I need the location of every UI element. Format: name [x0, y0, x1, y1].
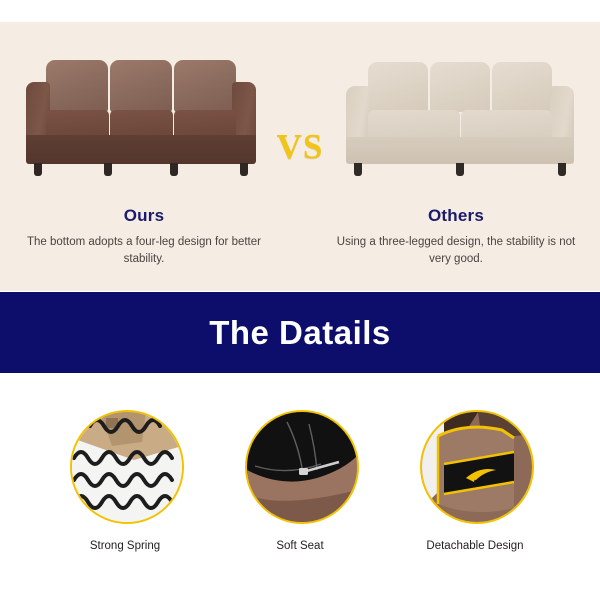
comparison-description-others: Using a three-legged design, the stabili…	[332, 234, 580, 268]
back-cushion	[430, 62, 490, 112]
section-banner: The Datails	[0, 292, 600, 373]
comparison-column-others: Others Using a three-legged design, the …	[316, 22, 596, 291]
sofa-leg	[558, 163, 566, 176]
sofa-base	[346, 137, 574, 164]
detail-item-strong-spring: Strong Spring	[50, 410, 200, 524]
sofa-leg	[456, 163, 464, 176]
sofa-leg	[240, 163, 248, 176]
comparison-panel: Ours The bottom adopts a four-leg design…	[0, 22, 600, 291]
seat-cushion	[461, 110, 552, 138]
back-cushion	[368, 62, 428, 112]
sofa-leg	[104, 163, 112, 176]
infographic-page: Ours The bottom adopts a four-leg design…	[0, 0, 600, 600]
sofa-base	[26, 135, 256, 164]
back-cushion	[174, 60, 236, 112]
detail-item-detachable-design: Detachable Design	[400, 410, 550, 524]
banner-title: The Datails	[209, 314, 391, 352]
back-cushion	[492, 62, 552, 112]
seat-cushion	[368, 110, 460, 138]
detail-photo-detachable-design	[420, 410, 534, 524]
detail-caption-strong-spring: Strong Spring	[50, 540, 200, 552]
seat-cushion	[174, 110, 236, 136]
back-cushion	[46, 60, 108, 112]
sofa-leg	[354, 163, 362, 176]
beige-sofa-illustration	[316, 52, 596, 197]
comparison-heading-ours: Ours	[4, 206, 284, 226]
comparison-heading-others: Others	[316, 206, 596, 226]
detail-photo-soft-seat	[245, 410, 359, 524]
brown-sofa-illustration	[4, 52, 284, 197]
sofa-leg	[34, 163, 42, 176]
comparison-column-ours: Ours The bottom adopts a four-leg design…	[4, 22, 284, 291]
seat-cushion	[46, 110, 109, 136]
detail-caption-soft-seat: Soft Seat	[225, 540, 375, 552]
sofa-image-ours	[4, 52, 284, 197]
seat-cushion	[110, 110, 173, 136]
detail-photo-serpentine-spring	[70, 410, 184, 524]
sofa-image-others	[316, 52, 596, 197]
details-section: Strong Spring Soft	[0, 373, 600, 600]
detail-item-soft-seat: Soft Seat	[225, 410, 375, 524]
detail-caption-detachable-design: Detachable Design	[400, 540, 550, 552]
sofa-leg	[170, 163, 178, 176]
comparison-description-ours: The bottom adopts a four-leg design for …	[20, 234, 268, 268]
back-cushion	[110, 60, 172, 112]
